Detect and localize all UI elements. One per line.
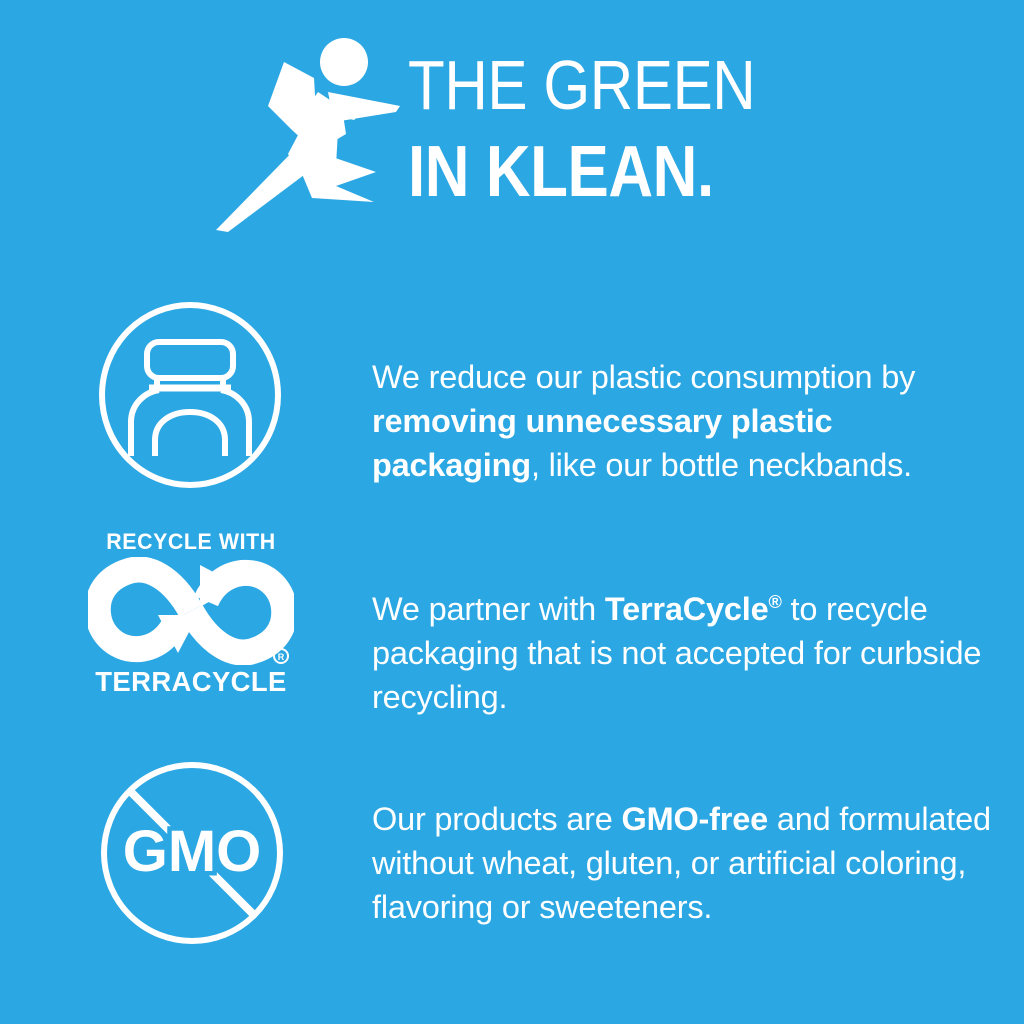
header: THE GREEN IN KLEAN. xyxy=(0,0,1024,262)
gmo-label: GMO xyxy=(123,819,262,884)
benefit-row-gmo: GMO Our products are GMO-free and formul… xyxy=(0,752,1024,962)
svg-text:R: R xyxy=(278,652,285,662)
icon-column: GMO xyxy=(0,752,372,962)
benefit-text-packaging: We reduce our plastic consumption by rem… xyxy=(372,355,1000,487)
logo-wordmark: THE GREEN IN KLEAN. xyxy=(408,48,988,210)
running-athlete-icon xyxy=(196,34,406,234)
terracycle-bottom-label: TERRACYCLE xyxy=(90,667,292,697)
wordmark-line-2: IN KLEAN. xyxy=(408,134,907,210)
wordmark-line-1: THE GREEN xyxy=(408,48,907,122)
registered-mark: R xyxy=(274,649,288,663)
icon-column: RECYCLE WITH xyxy=(0,530,372,716)
infinity-recycle-arrows-icon: R xyxy=(88,557,294,665)
terracycle-logo-icon: RECYCLE WITH xyxy=(88,530,294,712)
benefit-text-gmo: Our products are GMO-free and formulated… xyxy=(372,797,1000,929)
text-column: We reduce our plastic consumption by rem… xyxy=(372,296,1024,519)
icon-column xyxy=(0,296,372,496)
no-gmo-icon: GMO xyxy=(97,758,287,948)
green-in-klean-infographic: THE GREEN IN KLEAN. xyxy=(0,0,1024,1024)
benefit-row-packaging: We reduce our plastic consumption by rem… xyxy=(0,296,1024,496)
terracycle-top-label: RECYCLE WITH xyxy=(91,530,291,554)
bottle-neckband-icon xyxy=(97,300,283,490)
text-column: We partner with TerraCycle® to recycle p… xyxy=(372,530,1024,751)
benefit-row-terracycle: RECYCLE WITH xyxy=(0,530,1024,716)
benefit-text-terracycle: We partner with TerraCycle® to recycle p… xyxy=(372,587,1000,719)
text-column: Our products are GMO-free and formulated… xyxy=(372,752,1024,961)
